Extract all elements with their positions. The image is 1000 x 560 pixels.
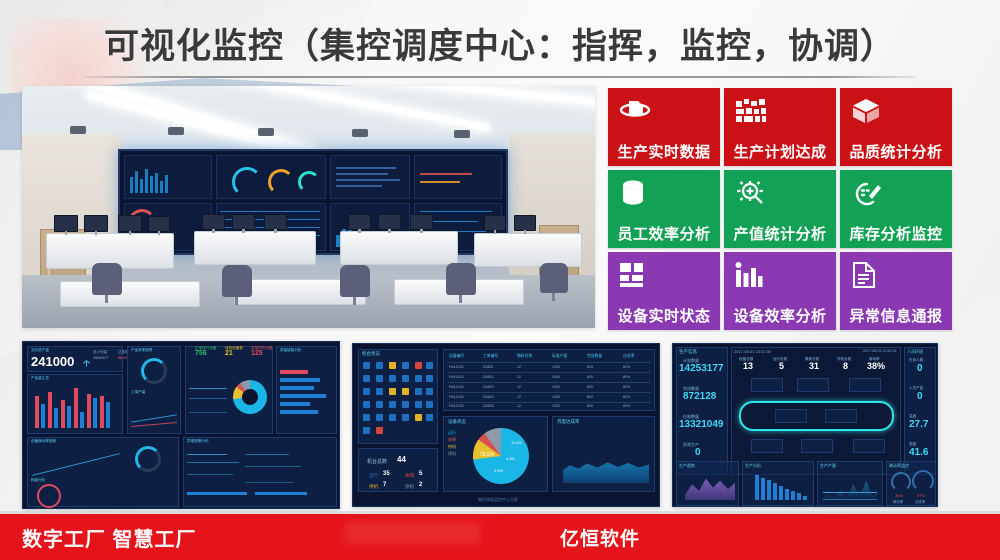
monitor bbox=[410, 214, 433, 230]
control-room-photo bbox=[22, 86, 595, 328]
tile-equipment-efficiency[interactable]: 设备效率分析 bbox=[724, 252, 836, 330]
tile-equipment-realtime-status[interactable]: 设备实时状态 bbox=[608, 252, 720, 330]
stat-value: 13 bbox=[743, 361, 753, 371]
tile-label: 员工效率分析 bbox=[608, 227, 720, 244]
workorder-status-dashboard[interactable]: 机台状态 机台总数 44 运行 35 故障 5 待机 7 停机 2 设备编号 工… bbox=[352, 343, 660, 507]
machine-tooltip bbox=[849, 378, 881, 392]
stat-value: 38% bbox=[867, 361, 885, 371]
gauge-dial bbox=[912, 470, 934, 492]
metric-value: 0 bbox=[695, 447, 701, 458]
kpi-target: 250000个 bbox=[93, 356, 109, 361]
table-cell: D0804 bbox=[483, 395, 494, 399]
tile-label: 异常信息通报 bbox=[840, 309, 952, 326]
table-cell: PA41425 bbox=[449, 395, 464, 399]
table-header: 工单编号 bbox=[483, 354, 498, 359]
table-cell: PA41425 bbox=[449, 375, 464, 379]
machine-total-label: 机台总数 bbox=[367, 458, 387, 465]
panel-title: 异常报警分布 bbox=[187, 439, 209, 444]
legend-value: 35 bbox=[383, 471, 390, 477]
stat-value: 8 bbox=[843, 361, 848, 371]
metric-value: 0 bbox=[917, 391, 923, 402]
table-cell: 80% bbox=[623, 375, 630, 379]
database-icon bbox=[619, 178, 653, 208]
metric-value: 0 bbox=[917, 363, 923, 374]
highlight-zone bbox=[739, 401, 894, 431]
table-cell: 800 bbox=[587, 385, 593, 389]
machine-tooltip bbox=[801, 439, 833, 453]
table-header: 达成率 bbox=[623, 354, 634, 359]
table-header: 物料名称 bbox=[517, 354, 532, 359]
desk bbox=[60, 281, 200, 307]
pie-slice-value: 79.5% bbox=[480, 452, 494, 458]
metric-value: 13321049 bbox=[679, 419, 724, 430]
ceiling-spotlight bbox=[70, 126, 86, 134]
gauge-dial bbox=[891, 472, 911, 492]
panel-title: 机台状态 bbox=[362, 351, 380, 357]
panel-title: 生产产量 bbox=[820, 463, 836, 469]
quality-panel bbox=[276, 346, 337, 434]
dashboard-footer-note: 集控调度监控中心大屏 bbox=[478, 497, 518, 503]
table-cell: D0803 bbox=[483, 385, 494, 389]
monitor bbox=[264, 214, 287, 230]
target-search-icon bbox=[735, 178, 769, 208]
inventory-scan-icon bbox=[851, 178, 885, 208]
table-cell: 800 bbox=[587, 404, 593, 408]
pie-legend-label: 故障 bbox=[448, 437, 456, 443]
chair bbox=[540, 263, 568, 293]
monitor bbox=[84, 215, 108, 232]
legend-value: 7 bbox=[383, 482, 386, 488]
table-cell: 80% bbox=[623, 385, 630, 389]
table-cell: 80% bbox=[623, 404, 630, 408]
tile-label: 生产计划达成 bbox=[724, 145, 836, 162]
machine-tooltip bbox=[751, 378, 783, 392]
table-cell: 800 bbox=[587, 395, 593, 399]
tile-label: 生产实时数据 bbox=[608, 145, 720, 162]
plant-3d-monitor-dashboard[interactable]: 生产信息 计划数量 14253177 完成数量 872128 在制数量 1332… bbox=[672, 343, 938, 507]
panel-title: 设备稼动率趋势 bbox=[31, 439, 56, 444]
monitor bbox=[148, 216, 170, 232]
pie-legend-label: 待机 bbox=[448, 444, 456, 450]
kpi-title: 当月总产量 bbox=[31, 348, 49, 353]
metric-value: 27.7 bbox=[909, 419, 928, 430]
machine-tooltip bbox=[751, 439, 783, 453]
status-label-fault: 异常停机设备 bbox=[251, 346, 273, 351]
metric-value: 14253177 bbox=[679, 363, 724, 374]
desk bbox=[194, 231, 316, 265]
table-cell: D0805 bbox=[483, 404, 494, 408]
metric-value: 872128 bbox=[683, 391, 716, 402]
ceiling-spotlight bbox=[352, 129, 368, 137]
table-cell: 1000 bbox=[552, 365, 560, 369]
tile-inventory-analysis[interactable]: 库存分析监控 bbox=[840, 170, 952, 248]
table-cell: 12 bbox=[517, 404, 521, 408]
monitor bbox=[54, 215, 78, 232]
status-value-fault: 125 bbox=[251, 350, 263, 357]
plan-achievement-icon bbox=[735, 96, 769, 126]
panel-title: 稼动率监控 bbox=[889, 463, 909, 469]
table-cell: 80% bbox=[623, 365, 630, 369]
monitor bbox=[118, 215, 142, 232]
kpi-unit: 个 bbox=[83, 359, 90, 369]
table-cell: 12 bbox=[517, 375, 521, 379]
panel-title: 月度达成率 bbox=[557, 419, 580, 425]
legend-label: 停机 bbox=[405, 484, 414, 490]
tile-label: 品质统计分析 bbox=[840, 145, 952, 162]
realtime-data-icon bbox=[619, 96, 653, 126]
table-cell: 1000 bbox=[552, 395, 560, 399]
alarm-panel bbox=[183, 437, 337, 507]
table-cell: 1000 bbox=[552, 375, 560, 379]
panel-title: 生产趋势 bbox=[679, 463, 695, 469]
table-header: 设备编号 bbox=[449, 354, 464, 359]
chair bbox=[446, 263, 476, 295]
production-overview-dashboard[interactable]: 当月总产量 241000 个 总计划量 250000个 达成率 96.4% 产品… bbox=[22, 341, 340, 509]
panel-title: 质量缺陷分析 bbox=[280, 348, 302, 353]
table-cell: D0802 bbox=[483, 375, 494, 379]
footer-brand: 亿恒软件 bbox=[200, 524, 1000, 551]
document-icon bbox=[851, 260, 885, 290]
chair bbox=[222, 265, 252, 297]
table-cell: 1000 bbox=[552, 385, 560, 389]
kpi-target-label: 总计划量 bbox=[93, 350, 107, 355]
tile-production-plan-achievement[interactable]: 生产计划达成 bbox=[724, 88, 836, 166]
monitor bbox=[202, 214, 225, 230]
page-title: 可视化监控（集控调度中心：指挥，监控，协调） bbox=[0, 18, 1000, 69]
plant-timestamp: 2017-08-01 13:52:39 bbox=[734, 349, 771, 354]
machine-tooltip bbox=[775, 409, 807, 423]
tile-output-value-statistics[interactable]: 产值统计分析 bbox=[724, 170, 836, 248]
metric-value: 41.6 bbox=[909, 447, 928, 458]
monitor bbox=[514, 215, 536, 231]
panel-title: 人员环境 bbox=[907, 349, 923, 355]
status-value-running: 756 bbox=[195, 350, 207, 357]
table-cell: PA41425 bbox=[449, 404, 464, 408]
tile-quality-statistics[interactable]: 品质统计分析 bbox=[840, 88, 952, 166]
machine-tooltip bbox=[825, 409, 857, 423]
stat-value: 31 bbox=[809, 361, 819, 371]
gauge-value: 97% bbox=[917, 493, 925, 498]
kpi-value: 241000 bbox=[31, 354, 74, 369]
title-underline bbox=[85, 76, 915, 78]
table-cell: 12 bbox=[517, 365, 521, 369]
gauge-label: 达成率 bbox=[915, 499, 925, 504]
legend-value: 2 bbox=[419, 482, 422, 488]
tile-exception-notification[interactable]: 异常信息通报 bbox=[840, 252, 952, 330]
title-section: 可视化监控（集控调度中心：指挥，监控，协调） bbox=[0, 18, 1000, 78]
quality-cube-icon bbox=[851, 96, 885, 126]
ceiling-spotlight bbox=[258, 128, 274, 136]
panel-title: 产品量汇总 bbox=[31, 376, 49, 381]
bar-chart-icon bbox=[735, 260, 769, 290]
pie-slice-value: 4.5% bbox=[506, 456, 515, 461]
ceiling-spotlight bbox=[168, 127, 184, 135]
panel-title: 生产分析 bbox=[745, 463, 761, 469]
machine-tooltip bbox=[853, 439, 885, 453]
gauge-label: 稼动率 bbox=[893, 499, 903, 504]
pie-slice-value: 11.4% bbox=[511, 440, 522, 445]
table-header: 标准产量 bbox=[552, 354, 567, 359]
tile-realtime-production-data[interactable]: 生产实时数据 bbox=[608, 88, 720, 166]
stat-value: 5 bbox=[779, 361, 784, 371]
legend-label: 运行 bbox=[369, 473, 378, 479]
pie-legend-label: 运行 bbox=[448, 430, 456, 436]
pie-slice-value: 4.5% bbox=[494, 468, 503, 473]
monitor bbox=[232, 214, 255, 230]
gauge-value: 30% bbox=[895, 493, 903, 498]
status-label-running: 正常运行设备 bbox=[195, 346, 217, 351]
monitor bbox=[484, 215, 506, 231]
machine-tooltip bbox=[797, 378, 829, 392]
machine-total-value: 44 bbox=[397, 455, 406, 464]
panel-title: 耗能分析 bbox=[31, 478, 45, 483]
legend-value: 5 bbox=[419, 471, 422, 477]
chair bbox=[92, 263, 122, 295]
table-cell: 12 bbox=[517, 395, 521, 399]
tile-label: 设备效率分析 bbox=[724, 309, 836, 326]
legend-label: 待机 bbox=[369, 484, 378, 490]
table-cell: PA41425 bbox=[449, 365, 464, 369]
monitor bbox=[378, 214, 401, 230]
footer-left-text: 数字工厂 智慧工厂 bbox=[22, 523, 197, 552]
grid-tiles-icon bbox=[619, 260, 653, 290]
workstation-area bbox=[22, 207, 595, 328]
monitor bbox=[348, 214, 371, 230]
tile-label: 产值统计分析 bbox=[724, 227, 836, 244]
legend-label: 故障 bbox=[405, 473, 414, 479]
desk bbox=[340, 231, 458, 265]
ceiling-spotlight bbox=[454, 130, 470, 138]
desk bbox=[474, 233, 582, 267]
feature-tile-grid: 生产实时数据 生产计划达成 品质统计分析 bbox=[608, 88, 952, 330]
table-cell: 80% bbox=[623, 395, 630, 399]
footer-banner: 数字工厂 智慧工厂 亿恒软件 bbox=[0, 514, 1000, 560]
chair bbox=[340, 265, 370, 297]
table-cell: D0801 bbox=[483, 365, 494, 369]
panel-title: 产品良率趋势 bbox=[131, 348, 153, 353]
pie-legend-label: 停机 bbox=[448, 451, 456, 457]
panel-title: 设备状态 bbox=[448, 419, 466, 425]
table-cell: 12 bbox=[517, 385, 521, 389]
panel-title: 生产信息 bbox=[679, 349, 697, 355]
table-cell: PA41425 bbox=[449, 385, 464, 389]
status-value-idle: 21 bbox=[225, 350, 233, 357]
status-label-idle: 待机设备数 bbox=[225, 346, 243, 351]
tile-label: 设备实时状态 bbox=[608, 309, 720, 326]
plant-panel-timestamp: 2017-08-01 13:52:39 bbox=[863, 349, 896, 353]
table-cell: 800 bbox=[587, 375, 593, 379]
table-cell: 800 bbox=[587, 365, 593, 369]
table-header: 完成数量 bbox=[587, 354, 602, 359]
tile-employee-efficiency[interactable]: 员工效率分析 bbox=[608, 170, 720, 248]
table-cell: 1000 bbox=[552, 404, 560, 408]
panel-title: 工单产量 bbox=[131, 390, 145, 395]
tile-label: 库存分析监控 bbox=[840, 227, 952, 244]
